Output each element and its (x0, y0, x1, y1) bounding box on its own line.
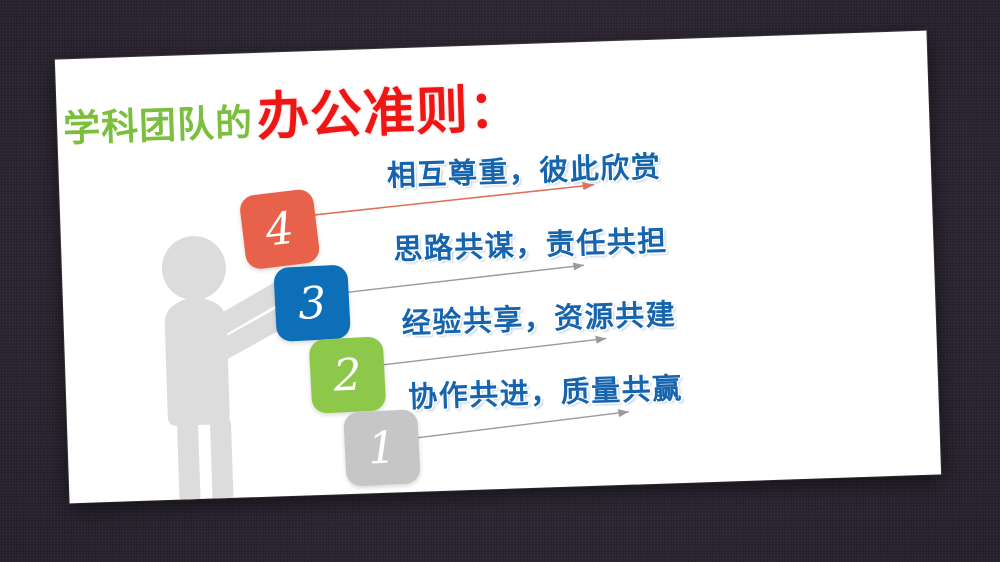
presentation-slide: 学科团队的 办公准则： (55, 31, 941, 504)
step-block-2[interactable]: 2 (309, 336, 387, 414)
page-title: 学科团队的 办公准则： (62, 66, 523, 156)
slide-content: 学科团队的 办公准则： (55, 31, 941, 504)
step-number-4: 4 (263, 202, 297, 256)
step-number-1: 1 (367, 422, 398, 474)
title-main: 办公准则： (255, 66, 522, 150)
step-block-4[interactable]: 4 (238, 188, 320, 270)
step-number-2: 2 (332, 349, 363, 401)
title-prefix: 学科团队的 (62, 92, 254, 152)
step-number-3: 3 (297, 277, 328, 329)
step-block-3[interactable]: 3 (273, 264, 351, 342)
step-block-1[interactable]: 1 (343, 409, 421, 487)
